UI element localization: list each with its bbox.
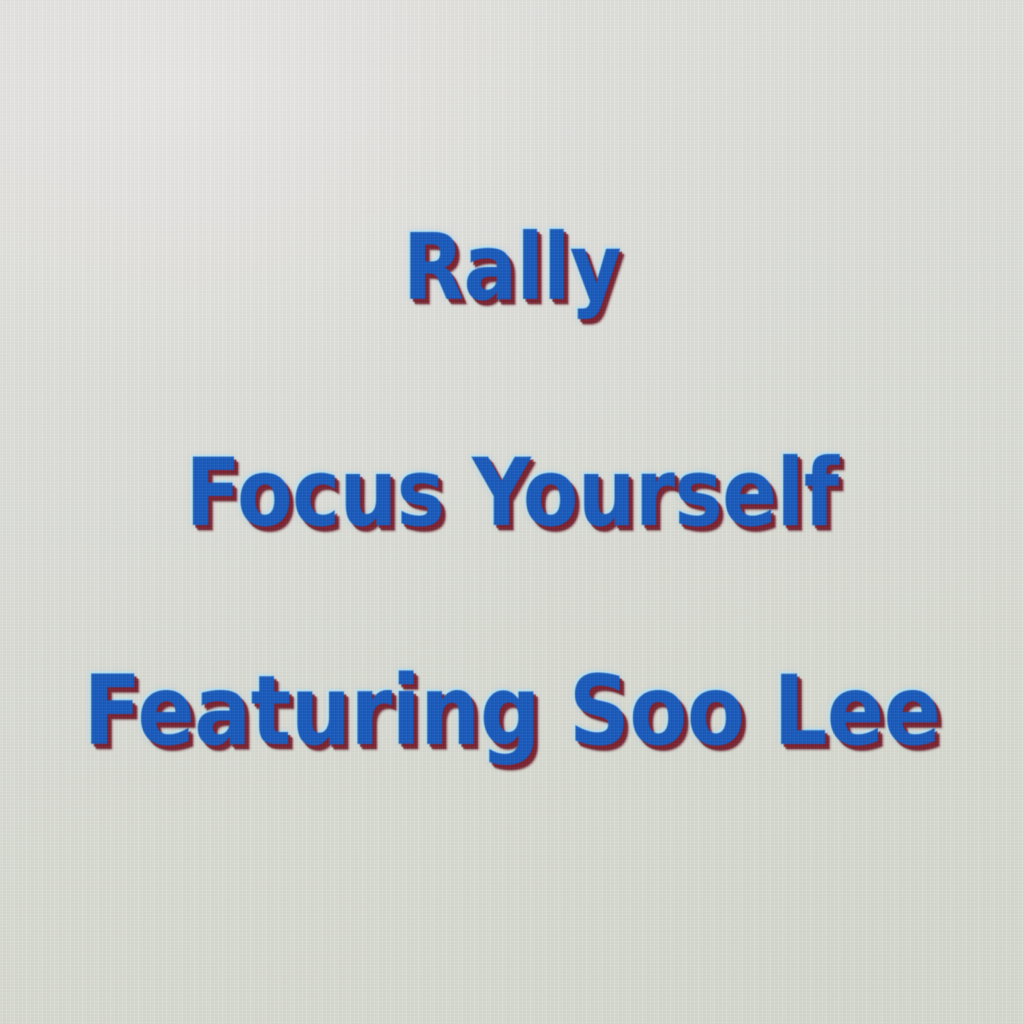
title-line-featured-credit[interactable]: Featuring Soo Lee	[61, 663, 962, 759]
title-text-block: Rally Focus Yourself Featuring Soo Lee	[0, 0, 1024, 1024]
screen-photo-canvas: Rally Focus Yourself Featuring Soo Lee	[0, 0, 1024, 1024]
title-line-artist[interactable]: Rally	[72, 222, 953, 314]
title-line-track-title[interactable]: Focus Yourself	[72, 447, 953, 541]
